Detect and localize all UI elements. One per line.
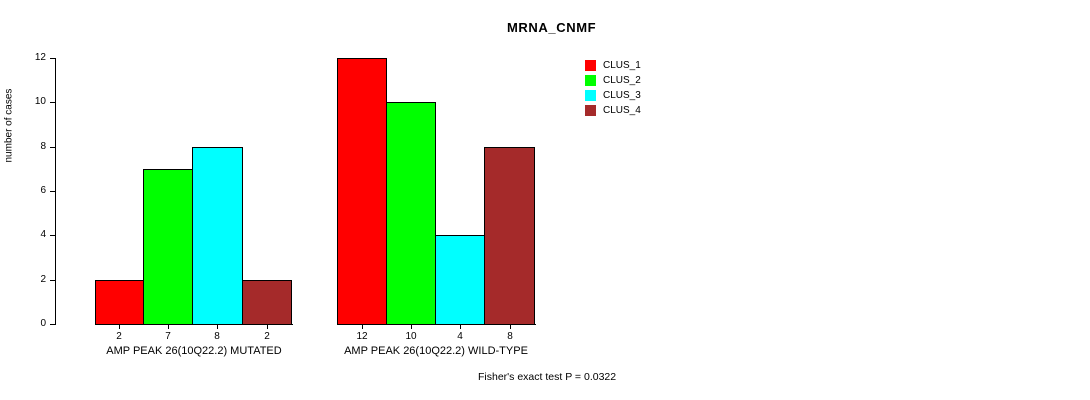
bar-group0-clus3 xyxy=(192,147,243,325)
x-tick-group1-clus3 xyxy=(460,325,461,329)
x-tick-group0-clus3 xyxy=(217,325,218,329)
bar-value-group1-clus2: 10 xyxy=(391,331,431,342)
y-axis-title: number of cases xyxy=(4,149,15,163)
y-tick-label-0: 0 xyxy=(20,319,46,329)
bar-group1-clus1 xyxy=(337,58,387,325)
chart-title: MRNA_CNMF xyxy=(507,20,596,35)
legend: CLUS_1 CLUS_2 CLUS_3 CLUS_4 xyxy=(585,58,641,118)
legend-swatch-icon-clus1 xyxy=(585,60,596,71)
y-tick-label-2: 2 xyxy=(20,275,46,285)
y-tick-0 xyxy=(50,324,55,325)
legend-swatch-icon-clus4 xyxy=(585,105,596,116)
bar-group0-clus4 xyxy=(242,280,292,325)
y-axis-line xyxy=(55,58,56,325)
y-tick-label-6: 6 xyxy=(20,186,46,196)
y-tick-label-8: 8 xyxy=(20,142,46,152)
bar-value-group0-clus1: 2 xyxy=(99,331,139,342)
x-tick-group0-clus4 xyxy=(267,325,268,329)
y-tick-6 xyxy=(50,191,55,192)
bar-group1-clus2 xyxy=(386,102,436,325)
bar-value-group1-clus4: 8 xyxy=(490,331,530,342)
legend-label-clus3: CLUS_3 xyxy=(603,90,641,101)
legend-swatch-icon-clus2 xyxy=(585,75,596,86)
legend-item-clus1: CLUS_1 xyxy=(585,58,641,73)
bar-group0-clus1 xyxy=(95,280,144,325)
bar-group1-clus4 xyxy=(484,147,535,325)
bar-value-group0-clus4: 2 xyxy=(247,331,287,342)
group-label-mutated: AMP PEAK 26(10Q22.2) MUTATED xyxy=(54,345,334,357)
legend-label-clus1: CLUS_1 xyxy=(603,60,641,71)
bar-value-group0-clus3: 8 xyxy=(197,331,237,342)
bar-value-group0-clus2: 7 xyxy=(148,331,188,342)
legend-swatch-icon-clus3 xyxy=(585,90,596,101)
x-tick-group1-clus4 xyxy=(510,325,511,329)
y-tick-label-4: 4 xyxy=(20,230,46,240)
statistical-annotation: Fisher's exact test P = 0.0322 xyxy=(478,371,616,383)
y-tick-12 xyxy=(50,58,55,59)
y-tick-2 xyxy=(50,280,55,281)
x-tick-group1-clus2 xyxy=(411,325,412,329)
y-tick-label-12: 12 xyxy=(20,53,46,63)
group-label-wildtype: AMP PEAK 26(10Q22.2) WILD-TYPE xyxy=(296,345,576,357)
y-tick-10 xyxy=(50,102,55,103)
legend-label-clus2: CLUS_2 xyxy=(603,75,641,86)
legend-label-clus4: CLUS_4 xyxy=(603,105,641,116)
legend-item-clus3: CLUS_3 xyxy=(585,88,641,103)
barplot-figure: MRNA_CNMF number of cases 0 2 4 6 8 10 1… xyxy=(0,0,1090,400)
y-tick-8 xyxy=(50,147,55,148)
x-tick-group0-clus1 xyxy=(119,325,120,329)
bar-group0-clus2 xyxy=(143,169,193,325)
bar-value-group1-clus3: 4 xyxy=(440,331,480,342)
legend-item-clus4: CLUS_4 xyxy=(585,103,641,118)
bar-value-group1-clus1: 12 xyxy=(342,331,382,342)
y-tick-4 xyxy=(50,235,55,236)
x-tick-group1-clus1 xyxy=(362,325,363,329)
x-axis-line-group1 xyxy=(337,324,536,325)
y-tick-label-10: 10 xyxy=(20,97,46,107)
bar-group1-clus3 xyxy=(435,235,485,325)
legend-item-clus2: CLUS_2 xyxy=(585,73,641,88)
x-tick-group0-clus2 xyxy=(168,325,169,329)
x-axis-line-group0 xyxy=(95,324,293,325)
